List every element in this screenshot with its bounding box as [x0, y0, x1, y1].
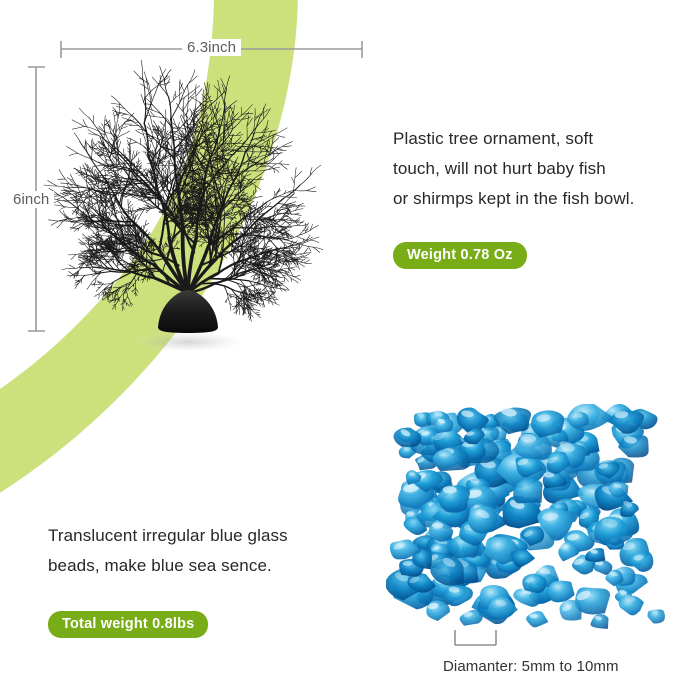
beads-description-line-2: beads, make blue sea sence.: [48, 551, 358, 581]
tree-description-line-2: touch, will not hurt baby fish: [393, 154, 675, 184]
total-weight-badge: Total weight 0.8lbs: [48, 611, 208, 638]
height-dimension-label: 6inch: [8, 191, 54, 208]
tree-description: Plastic tree ornament, soft touch, will …: [393, 124, 675, 214]
beads-description-line-1: Translucent irregular blue glass: [48, 521, 358, 551]
product-infographic: 6.3inch 6inch Plastic tree ornament, sof…: [0, 0, 679, 682]
beads-description: Translucent irregular blue glass beads, …: [48, 521, 358, 581]
tree-description-line-3: or shirmps kept in the fish bowl.: [393, 184, 675, 214]
bead-diameter-caption: Diamanter: 5mm to 10mm: [443, 658, 619, 675]
measurement-bracket-icon: [440, 628, 510, 648]
glass-beads-icon: [386, 404, 679, 645]
width-dimension-label: 6.3inch: [182, 39, 241, 56]
tree-description-line-1: Plastic tree ornament, soft: [393, 124, 675, 154]
weight-oz-badge: Weight 0.78 Oz: [393, 242, 527, 269]
